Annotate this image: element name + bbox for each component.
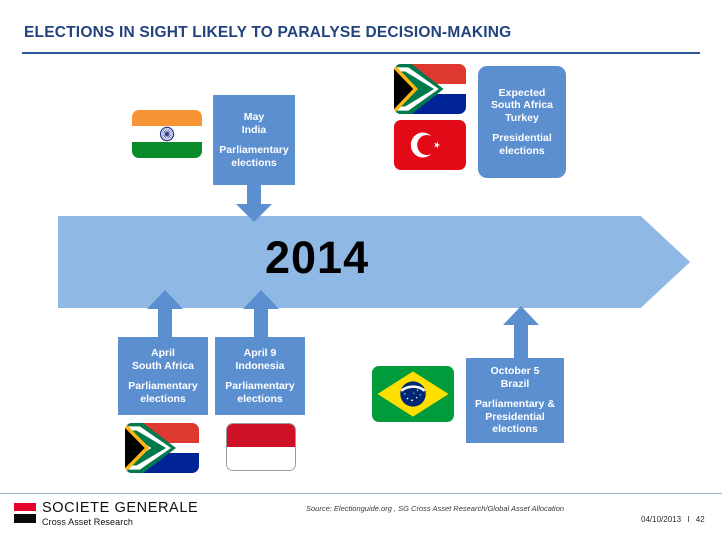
slide-number: 42 — [696, 515, 705, 524]
callout-india-when: May India — [242, 111, 267, 136]
callout-india-type: Parliamentary elections — [219, 144, 288, 169]
societe-generale-logo-icon — [14, 503, 36, 523]
callout-south-africa-type: Parliamentary elections — [128, 380, 197, 405]
callout-brazil[interactable]: October 5 Brazil Parliamentary & Preside… — [466, 358, 564, 443]
page-meta: 04/10/2013 I 42 — [641, 515, 705, 524]
year-label: 2014 — [265, 228, 369, 288]
connector-arrow-indonesia — [243, 290, 279, 340]
logo-tagline: Cross Asset Research — [42, 517, 133, 527]
flag-india — [132, 110, 202, 158]
flag-brazil — [372, 366, 454, 422]
connector-arrow-south-africa — [147, 290, 183, 340]
callout-south-africa-when: April South Africa — [132, 347, 194, 372]
logo-black-block — [14, 514, 36, 523]
callout-sa-turkey-type: Presidential elections — [492, 132, 552, 157]
flag-south-africa-top — [394, 64, 466, 114]
flag-south-africa-bottom — [125, 423, 199, 473]
callout-indonesia[interactable]: April 9 Indonesia Parliamentary election… — [215, 337, 305, 415]
slide-canvas: ELECTIONS IN SIGHT LIKELY TO PARALYSE DE… — [0, 0, 722, 536]
logo-red-block — [14, 503, 36, 511]
footer-divider — [0, 493, 722, 494]
logo-wordmark: SOCIETE GENERALE — [42, 500, 198, 516]
callout-indonesia-when: April 9 Indonesia — [235, 347, 284, 372]
flag-indonesia — [226, 423, 296, 471]
connector-arrow-brazil — [503, 306, 539, 358]
slide-date: 04/10/2013 — [641, 515, 681, 524]
page-meta-separator: I — [687, 515, 689, 524]
callout-south-africa[interactable]: April South Africa Parliamentary electio… — [118, 337, 208, 415]
page-title: ELECTIONS IN SIGHT LIKELY TO PARALYSE DE… — [24, 24, 511, 42]
callout-indonesia-type: Parliamentary elections — [225, 380, 294, 405]
callout-sa-turkey-when: Expected South Africa Turkey — [491, 87, 553, 125]
callout-brazil-when: October 5 Brazil — [490, 365, 539, 390]
callout-india[interactable]: May India Parliamentary elections — [213, 95, 295, 185]
callout-south-africa-turkey[interactable]: Expected South Africa Turkey Presidentia… — [478, 66, 566, 178]
title-divider — [22, 52, 700, 54]
source-note: Source: Electionguide.org , SG Cross Ass… — [306, 504, 564, 513]
flag-turkey — [394, 120, 466, 170]
connector-arrow-india — [236, 184, 272, 222]
callout-brazil-type: Parliamentary & Presidential elections — [475, 398, 555, 436]
